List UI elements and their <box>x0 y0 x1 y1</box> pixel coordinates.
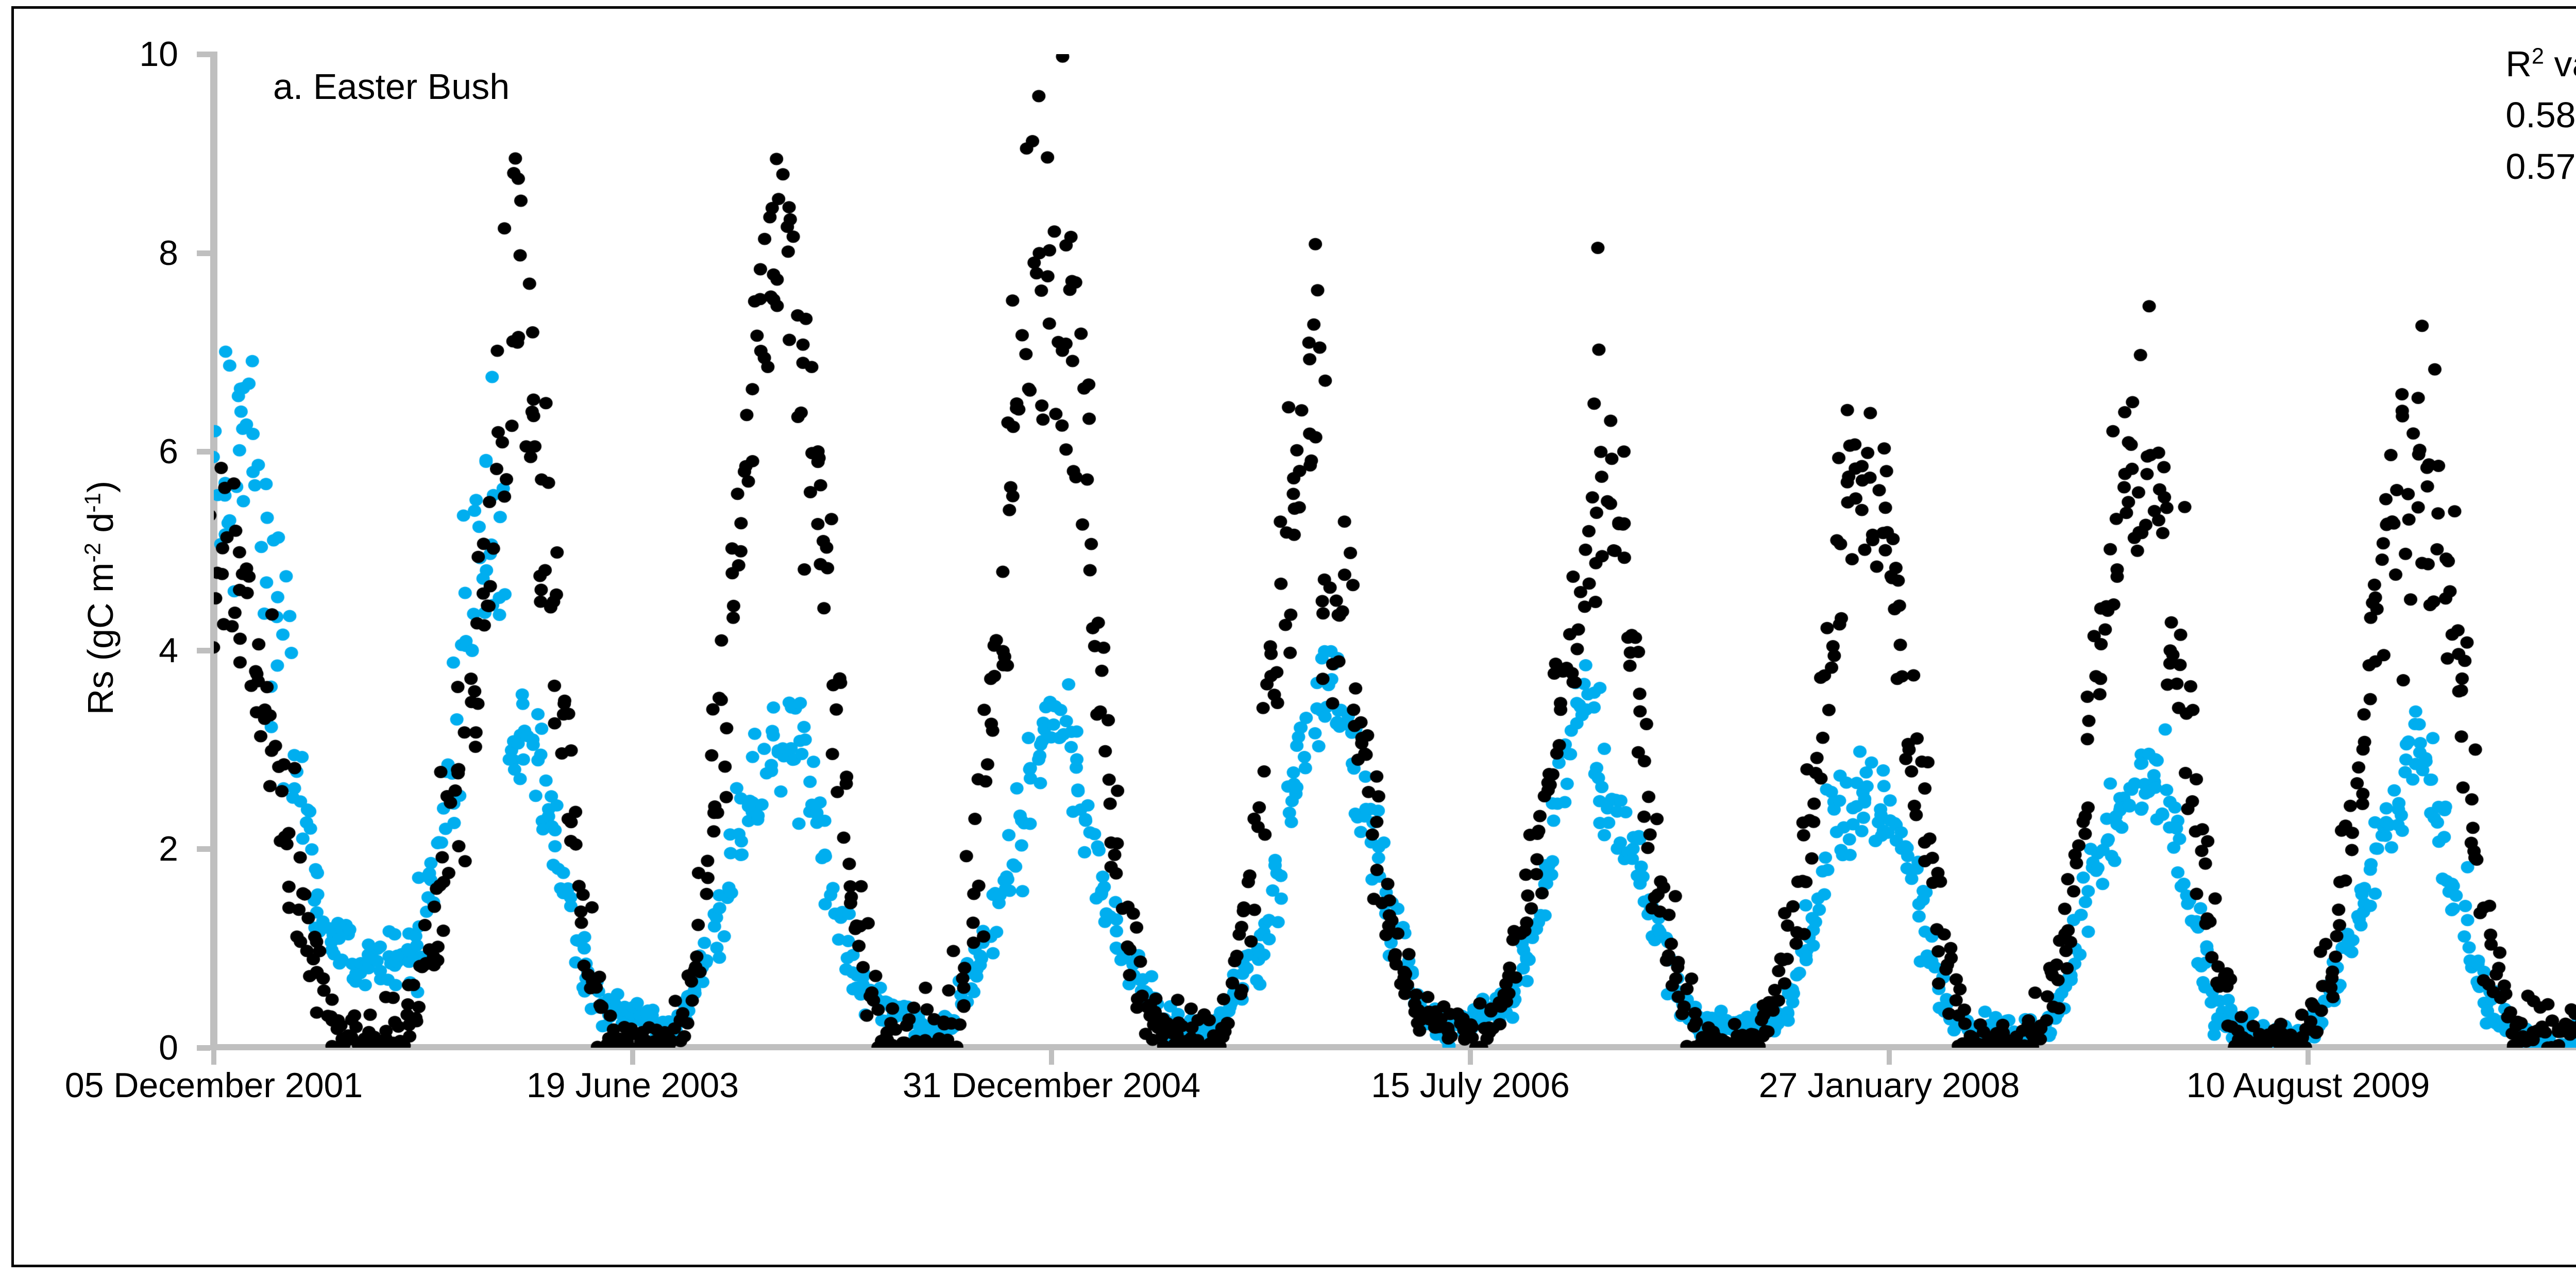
x-tick-label-0: 05 December 2001 <box>0 1068 446 1103</box>
x-tick-label-6: 22 February 2011 <box>2495 1068 2576 1103</box>
x-tick-mark-5 <box>2306 1049 2311 1065</box>
y-tick-label-2: 2 <box>8 831 178 866</box>
y-axis-title: Rs (gC m-2 d-1) <box>80 443 121 752</box>
y-tick-mark-6 <box>197 449 210 455</box>
r2-line-1: R2 values= 0.48, 0.47, <box>2505 39 2576 90</box>
r2-values-annotation: R2 values= 0.48, 0.47, 0.58, 0.50, 0.15,… <box>2505 39 2576 192</box>
y-tick-label-0: 0 <box>8 1030 178 1065</box>
r2-line-1-text: values= 0.48, 0.47, <box>2544 44 2576 84</box>
x-tick-mark-2 <box>1049 1049 1054 1065</box>
x-tick-mark-4 <box>1887 1049 1892 1065</box>
y-axis-title-sup-d1: -1 <box>81 493 106 513</box>
y-tick-label-10: 10 <box>8 37 178 72</box>
y-tick-mark-8 <box>197 250 210 256</box>
r2-line-2: 0.58, 0.50, 0.15, <box>2505 90 2576 141</box>
y-tick-label-4: 4 <box>8 633 178 668</box>
y-tick-label-8: 8 <box>8 236 178 271</box>
x-tick-mark-1 <box>630 1049 635 1065</box>
x-tick-mark-0 <box>211 1049 216 1065</box>
y-tick-mark-10 <box>197 52 210 57</box>
y-axis-title-mid: d <box>80 513 121 543</box>
r2-line-3: 0.57, 0.57, 0.23, 0.63 <box>2505 141 2576 192</box>
plot-area <box>214 54 2576 1048</box>
x-tick-mark-3 <box>1468 1049 1473 1065</box>
y-axis-title-sup-m2: -2 <box>81 543 106 563</box>
panel-label: a. Easter Bush <box>273 66 510 107</box>
x-tick-label-3: 15 July 2006 <box>1239 1068 1702 1103</box>
y-tick-mark-0 <box>197 1045 210 1051</box>
x-tick-label-1: 19 June 2003 <box>401 1068 865 1103</box>
x-tick-label-4: 27 January 2008 <box>1657 1068 2121 1103</box>
x-tick-label-2: 31 December 2004 <box>820 1068 1283 1103</box>
scatter-plot-canvas <box>214 54 2576 1048</box>
r2-superscript: 2 <box>2532 44 2544 69</box>
y-tick-mark-4 <box>197 648 210 653</box>
y-tick-mark-2 <box>197 846 210 852</box>
r2-prefix: R <box>2505 44 2532 84</box>
y-axis-title-end: ) <box>80 481 121 493</box>
y-tick-label-6: 6 <box>8 434 178 469</box>
figure-root: Rs (gC m-2 d-1) 0246810 05 December 2001… <box>0 0 2576 1276</box>
x-tick-label-5: 10 August 2009 <box>2076 1068 2540 1103</box>
